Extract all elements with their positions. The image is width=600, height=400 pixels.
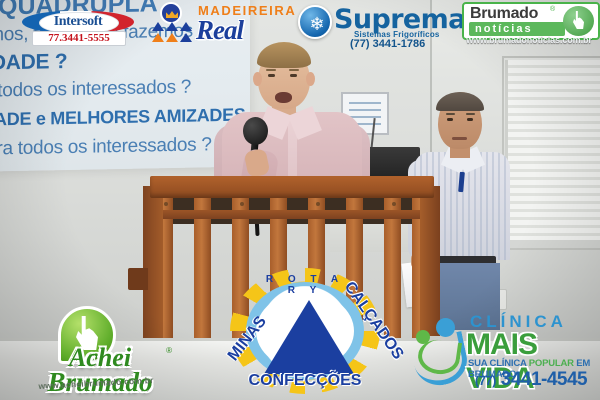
sponsor-logo-suprema[interactable]: ❄ Suprema Sistemas Frigoríficos (77) 344… [298,3,448,48]
microphone-head [243,117,268,145]
sponsor-logo-brumado-noticias[interactable]: Brumado ® notícias www.brumadonoticias.c… [462,2,596,47]
speaker-eye-right [290,74,297,77]
banner-line-3: ra todos os interessados ? [0,77,191,103]
clinica-green-head [416,330,430,344]
suprema-phone: (77) 3441-1786 [350,38,425,50]
clinica-people-icon [414,318,466,380]
speaker-mouth [275,92,292,103]
sponsor-logo-intersoft[interactable]: Intersoft 77.3441-5555 [22,5,134,45]
sponsor-logo-achei-brumado[interactable]: Achei Brumado ® www.acheibrumado.com.br [14,306,178,392]
older-man-eye-left [447,118,453,121]
banner-line-2: RDADE ? [0,50,67,76]
clinica-tagline-a: SUA CLÍNICA [468,358,529,369]
lectern-top-ledge [150,176,434,198]
speaker-ear-left [253,72,262,86]
crown-icon [160,2,182,24]
speaker-ear-right [306,72,315,86]
lectern-side-ledge [128,268,148,290]
older-man-brow-left [446,113,455,115]
photo-with-sponsor-overlays: QUADRUPLA amos, fazemos e fazemos RDADE … [0,0,600,400]
sponsor-logo-madeireira-real[interactable]: MADEIREIRA Real [148,2,284,46]
older-man-mouth [452,137,467,140]
rotary-blue-triangle [264,300,354,374]
clinica-phone: (77) 3441-4545 [466,369,596,391]
clinica-tagline-b: POPULAR [529,358,577,369]
older-man-eye-right [467,118,473,121]
chevron-stack-icon [152,22,194,44]
brumado-url: www.brumadonoticias.com.br [464,35,594,45]
rotary-bottom-word: CONFECÇÕES [216,372,394,390]
clinica-blue-head [436,318,455,337]
speaker-brow-right [289,69,299,71]
speaker-brow-left [266,69,276,71]
intersoft-phone: 77.3441-5555 [32,31,126,46]
brumado-green-bar: notícias [469,22,565,36]
lectern-slat [194,198,211,346]
speaker-eye-left [268,74,275,77]
clinica-phone-number: 3441-4545 [501,369,587,390]
snowflake-icon: ❄ [308,15,326,33]
brumado-bottom-word: notícias [475,22,533,36]
window-blinds [505,60,600,240]
brumado-top-word: Brumado [470,5,538,23]
sponsor-logo-rotary-minas-calcados[interactable]: R O T A R Y MINAS CALÇADOS CONFECÇÕES [216,268,394,400]
suprema-badge: ❄ [298,5,332,39]
banner-line-4: NTADE e MELHORES AMIZADES [0,105,246,131]
registered-mark-icon: ® [166,346,172,355]
madeireira-main-word: Real [196,15,243,46]
clinica-phone-area: (77) [475,373,496,388]
registered-mark-icon: ® [550,6,555,13]
older-man-brow-right [466,113,475,115]
banner-line-5: para todos os interessados ? [0,134,212,161]
sponsor-logo-clinica-mais-vida[interactable]: CLÍNICA MAIS VIDA SUA CLÍNICA POPULAR EM… [414,312,596,390]
pointing-hand-icon [563,6,594,36]
intersoft-name: Intersoft [39,14,117,30]
lectern-rail [156,210,428,219]
